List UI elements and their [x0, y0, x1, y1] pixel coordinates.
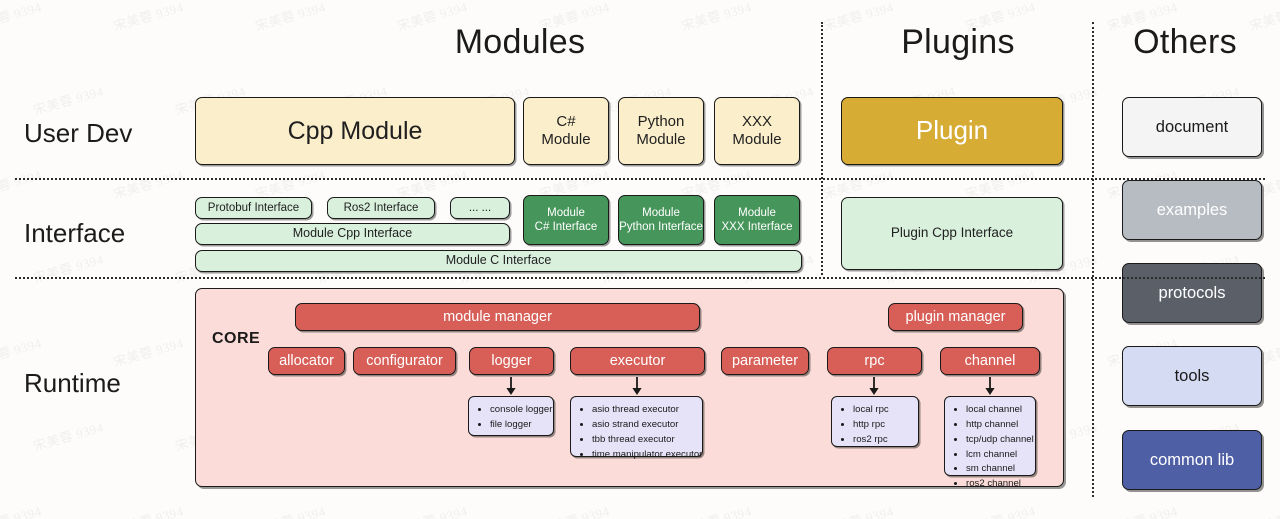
- box-plugin-manager-label: plugin manager: [906, 309, 1006, 325]
- box-plugin-cpp-interface[interactable]: Plugin Cpp Interface: [841, 197, 1063, 270]
- watermark-text: 宋美蓉 9394: [1247, 500, 1280, 519]
- divider-modules-plugins: [821, 22, 823, 275]
- list-channel-details: local channel http channel tcp/udp chann…: [944, 396, 1036, 476]
- list-channel-items: local channel http channel tcp/udp chann…: [953, 403, 1029, 492]
- box-csharp-module-line1: C#: [556, 113, 575, 131]
- box-ros2-interface[interactable]: Ros2 Interface: [327, 197, 435, 219]
- box-xxx-module-line2: Module: [732, 131, 781, 149]
- box-ellipsis-interface[interactable]: ... ...: [450, 197, 510, 219]
- box-protocols[interactable]: protocols: [1122, 263, 1262, 323]
- list-item: lcm channel: [966, 448, 1029, 463]
- row-label-interface: Interface: [24, 218, 125, 249]
- list-item: ros2 channel: [966, 477, 1029, 492]
- box-cpp-module[interactable]: Cpp Module: [195, 97, 515, 165]
- column-header-others: Others: [1100, 25, 1270, 59]
- list-rpc-details: local rpc http rpc ros2 rpc: [831, 396, 919, 447]
- box-python-module[interactable]: Python Module: [618, 97, 704, 165]
- box-plugin-manager[interactable]: plugin manager: [888, 303, 1023, 331]
- box-module-manager-label: module manager: [443, 309, 552, 325]
- box-allocator[interactable]: allocator: [268, 347, 345, 375]
- box-python-module-line2: Module: [636, 131, 685, 149]
- divider-plugins-others: [1092, 22, 1094, 497]
- list-item: time manipulator executor: [592, 448, 696, 463]
- box-module-xxx-interface-line1: Module: [738, 206, 776, 220]
- list-item: tcp/udp channel: [966, 433, 1029, 448]
- box-ros2-interface-label: Ros2 Interface: [344, 201, 419, 215]
- box-cpp-module-label: Cpp Module: [288, 116, 423, 147]
- list-item: ros2 rpc: [853, 433, 912, 448]
- watermark-text: 宋美蓉 9394: [31, 248, 106, 286]
- watermark-text: 宋美蓉 9394: [0, 332, 43, 370]
- box-channel[interactable]: channel: [940, 347, 1040, 375]
- box-module-manager[interactable]: module manager: [295, 303, 700, 331]
- box-protocols-label: protocols: [1159, 284, 1226, 303]
- list-logger-items: console logger file logger: [477, 403, 547, 433]
- watermark-text: 宋美蓉 9394: [963, 500, 1038, 519]
- list-item: console logger: [490, 403, 547, 418]
- arrow-down-logger: [504, 377, 518, 396]
- list-executor-items: asio thread executor asio strand executo…: [579, 403, 696, 462]
- box-module-csharp-interface[interactable]: Module C# Interface: [523, 195, 609, 245]
- list-item: http rpc: [853, 418, 912, 433]
- box-xxx-module[interactable]: XXX Module: [714, 97, 800, 165]
- box-module-cpp-interface-label: Module Cpp Interface: [293, 226, 413, 241]
- box-examples-label: examples: [1157, 201, 1228, 220]
- box-plugin[interactable]: Plugin: [841, 97, 1063, 165]
- box-executor-label: executor: [610, 353, 666, 369]
- box-parameter[interactable]: parameter: [721, 347, 809, 375]
- list-item: tbb thread executor: [592, 433, 696, 448]
- watermark-text: 宋美蓉 9394: [111, 500, 186, 519]
- box-rpc-label: rpc: [864, 353, 884, 369]
- watermark-text: 宋美蓉 9394: [0, 164, 43, 202]
- row-label-user-dev: User Dev: [24, 118, 132, 149]
- box-configurator-label: configurator: [366, 353, 443, 369]
- list-item: asio strand executor: [592, 418, 696, 433]
- watermark-text: 宋美蓉 9394: [1105, 500, 1180, 519]
- box-xxx-module-line1: XXX: [742, 113, 772, 131]
- box-module-xxx-interface-line2: XXX Interface: [722, 220, 793, 234]
- box-protobuf-interface-label: Protobuf Interface: [208, 201, 299, 215]
- watermark-text: 宋美蓉 9394: [821, 500, 896, 519]
- list-item: asio thread executor: [592, 403, 696, 418]
- box-ellipsis-interface-label: ... ...: [469, 201, 491, 215]
- list-item: local rpc: [853, 403, 912, 418]
- list-item: http channel: [966, 418, 1029, 433]
- list-item: file logger: [490, 418, 547, 433]
- box-plugin-label: Plugin: [916, 115, 988, 147]
- architecture-diagram: 宋美蓉 9394宋美蓉 9394宋美蓉 9394宋美蓉 9394宋美蓉 9394…: [0, 0, 1280, 519]
- box-document-label: document: [1156, 118, 1228, 137]
- divider-userdev-interface: [15, 178, 1265, 180]
- list-logger-details: console logger file logger: [468, 396, 554, 436]
- watermark-text: 宋美蓉 9394: [253, 500, 328, 519]
- box-logger-label: logger: [491, 353, 531, 369]
- watermark-text: 宋美蓉 9394: [679, 500, 754, 519]
- box-module-c-interface-label: Module C Interface: [446, 253, 552, 268]
- box-module-xxx-interface[interactable]: Module XXX Interface: [714, 195, 800, 245]
- box-common-lib-label: common lib: [1150, 451, 1234, 470]
- box-common-lib[interactable]: common lib: [1122, 430, 1262, 490]
- box-python-module-line1: Python: [638, 113, 685, 131]
- box-channel-label: channel: [965, 353, 1016, 369]
- core-label: CORE: [212, 330, 260, 348]
- watermark-text: 宋美蓉 9394: [111, 164, 186, 202]
- watermark-text: 宋美蓉 9394: [0, 500, 43, 519]
- row-label-runtime: Runtime: [24, 368, 121, 399]
- box-plugin-cpp-interface-label: Plugin Cpp Interface: [891, 225, 1013, 241]
- box-protobuf-interface[interactable]: Protobuf Interface: [195, 197, 312, 219]
- list-executor-details: asio thread executor asio strand executo…: [570, 396, 703, 457]
- box-tools[interactable]: tools: [1122, 346, 1262, 406]
- box-logger[interactable]: logger: [469, 347, 554, 375]
- box-configurator[interactable]: configurator: [353, 347, 456, 375]
- box-tools-label: tools: [1175, 367, 1210, 386]
- column-header-plugins: Plugins: [838, 25, 1078, 59]
- box-module-cpp-interface[interactable]: Module Cpp Interface: [195, 223, 510, 245]
- box-module-python-interface[interactable]: Module Python Interface: [618, 195, 704, 245]
- list-item: sm channel: [966, 462, 1029, 477]
- watermark-text: 宋美蓉 9394: [111, 332, 186, 370]
- watermark-text: 宋美蓉 9394: [31, 80, 106, 118]
- box-csharp-module-line2: Module: [541, 131, 590, 149]
- box-parameter-label: parameter: [732, 353, 798, 369]
- box-module-python-interface-line2: Python Interface: [619, 220, 703, 234]
- box-module-csharp-interface-line2: C# Interface: [535, 220, 598, 234]
- box-allocator-label: allocator: [279, 353, 334, 369]
- watermark-text: 宋美蓉 9394: [0, 0, 43, 35]
- box-module-python-interface-line1: Module: [642, 206, 680, 220]
- box-examples[interactable]: examples: [1122, 180, 1262, 240]
- box-module-c-interface[interactable]: Module C Interface: [195, 250, 802, 272]
- arrow-down-channel: [983, 377, 997, 396]
- box-executor[interactable]: executor: [570, 347, 705, 375]
- list-item: local channel: [966, 403, 1029, 418]
- arrow-down-executor: [630, 377, 644, 396]
- watermark-text: 宋美蓉 9394: [537, 500, 612, 519]
- arrow-down-rpc: [867, 377, 881, 396]
- box-csharp-module[interactable]: C# Module: [523, 97, 609, 165]
- box-rpc[interactable]: rpc: [827, 347, 922, 375]
- watermark-text: 宋美蓉 9394: [31, 416, 106, 454]
- box-document[interactable]: document: [1122, 97, 1262, 157]
- box-module-csharp-interface-line1: Module: [547, 206, 585, 220]
- divider-interface-runtime: [15, 277, 1265, 279]
- watermark-text: 宋美蓉 9394: [111, 0, 186, 35]
- list-rpc-items: local rpc http rpc ros2 rpc: [840, 403, 912, 448]
- watermark-text: 宋美蓉 9394: [395, 500, 470, 519]
- column-header-modules: Modules: [300, 25, 740, 59]
